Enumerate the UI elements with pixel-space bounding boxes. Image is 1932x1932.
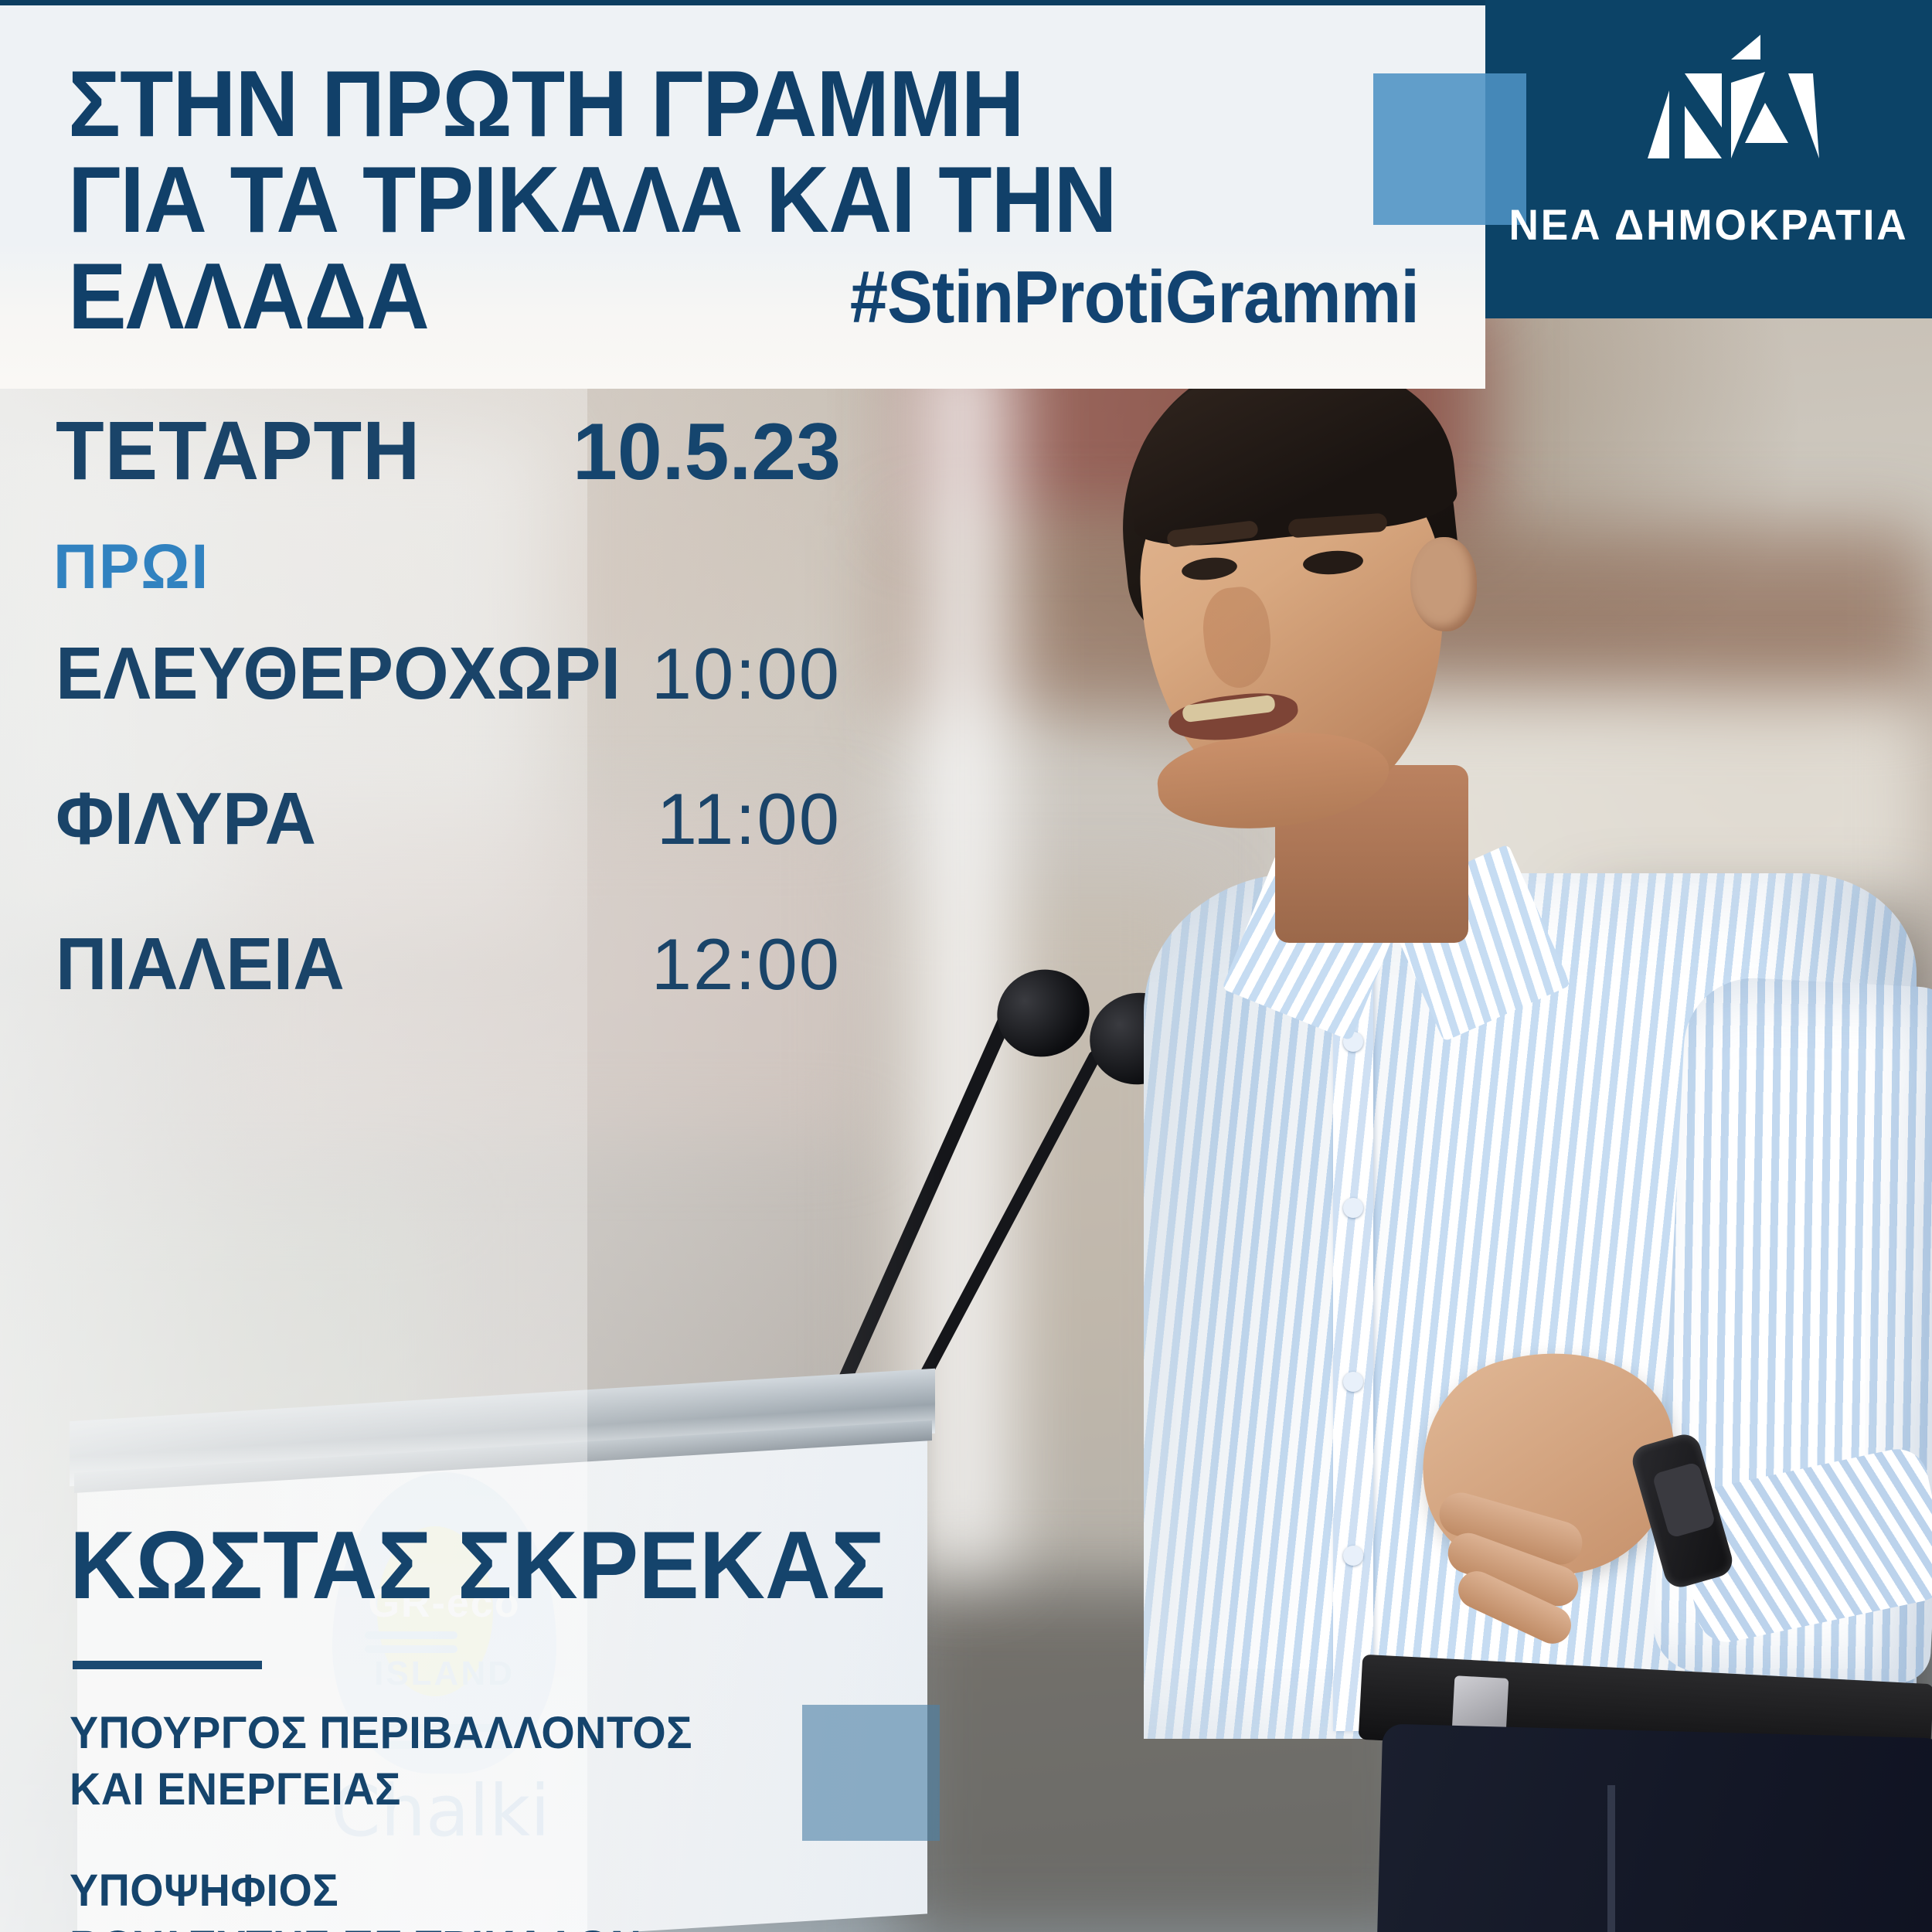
candidate-block: ΚΩΣΤΑΣ ΣΚΡΕΚΑΣ ΥΠΟΥΡΓΟΣ ΠΕΡΙΒΑΛΛΟΝΤΟΣ ΚΑ… — [0, 1511, 927, 1932]
stop-time: 12:00 — [651, 923, 841, 1006]
shirt-placket — [1333, 943, 1373, 1731]
date-row: ΤΕΤΑΡΤΗ 10.5.23 — [0, 402, 896, 498]
campaign-hashtag: #StinProtiGrammi — [114, 255, 1419, 340]
stop-place: ΠΙΑΛΕΙΑ — [56, 922, 345, 1007]
candidate-role-candidacy: ΥΠΟΨΗΦΙΟΣ ΒΟΥΛΕΥΤΗΣ ΠΕ ΤΡΙΚΑΛΩΝ — [70, 1862, 893, 1932]
schedule-stop-row: ΠΙΑΛΕΙΑ 12:00 — [0, 922, 896, 1007]
stop-place: ΦΙΛΥΡΑ — [56, 777, 316, 862]
shirt-button — [1343, 1546, 1363, 1566]
candidate-name: ΚΩΣΤΑΣ ΣΚΡΕΚΑΣ — [70, 1511, 885, 1621]
schedule-stop-row: ΦΙΛΥΡΑ 11:00 — [0, 777, 896, 862]
stop-time: 10:00 — [651, 632, 841, 716]
candidate-divider — [73, 1661, 262, 1669]
trouser-crease — [1607, 1785, 1615, 1932]
candidate-role-line-2: ΚΑΙ ΕΝΕΡΓΕΙΑΣ — [70, 1761, 893, 1818]
headline-line-1: ΣΤΗΝ ΠΡΩΤΗ ΓΡΑΜΜΗ — [68, 51, 1024, 156]
nea-dimokratia-logo-icon — [1637, 35, 1844, 193]
candidate-role-line-4: ΒΟΥΛΕΥΤΗΣ ΠΕ ΤΡΙΚΑΛΩΝ — [70, 1919, 893, 1932]
schedule-block: ΤΕΤΑΡΤΗ 10.5.23 ΠΡΩΙ ΕΛΕΥΘΕΡΟΧΩΡΙ 10:00 … — [0, 402, 896, 1007]
speaker-figure — [912, 332, 1932, 1932]
candidate-role-ministry: ΥΠΟΥΡΓΟΣ ΠΕΡΙΒΑΛΛΟΝΤΟΣ ΚΑΙ ΕΝΕΡΓΕΙΑΣ — [70, 1705, 893, 1818]
party-name: ΝΕΑ ΔΗΜΟΚΡΑΤΙΑ — [1496, 199, 1920, 250]
ear — [1410, 537, 1477, 631]
campaign-poster: GR-eco ISLAND Chalki ΣΤΗΝ ΠΡΩΤΗ ΓΡΑΜΜΗ Γ… — [0, 0, 1932, 1932]
day-label: ΤΕΤΑΡΤΗ — [56, 402, 420, 498]
candidate-role-line-3: ΥΠΟΨΗΦΙΟΣ — [70, 1862, 893, 1919]
shirt-button — [1343, 1198, 1363, 1218]
date-value: 10.5.23 — [573, 406, 841, 498]
stop-time: 11:00 — [657, 777, 841, 861]
schedule-stop-row: ΕΛΕΥΘΕΡΟΧΩΡΙ 10:00 — [0, 631, 896, 716]
part-of-day-label: ΠΡΩΙ — [0, 531, 861, 604]
top-rule — [0, 0, 1485, 5]
trousers — [1369, 1723, 1932, 1932]
stop-place: ΕΛΕΥΘΕΡΟΧΩΡΙ — [56, 631, 621, 716]
shirt-button — [1343, 1372, 1363, 1392]
candidate-role-line-1: ΥΠΟΥΡΓΟΣ ΠΕΡΙΒΑΛΛΟΝΤΟΣ — [70, 1705, 893, 1761]
